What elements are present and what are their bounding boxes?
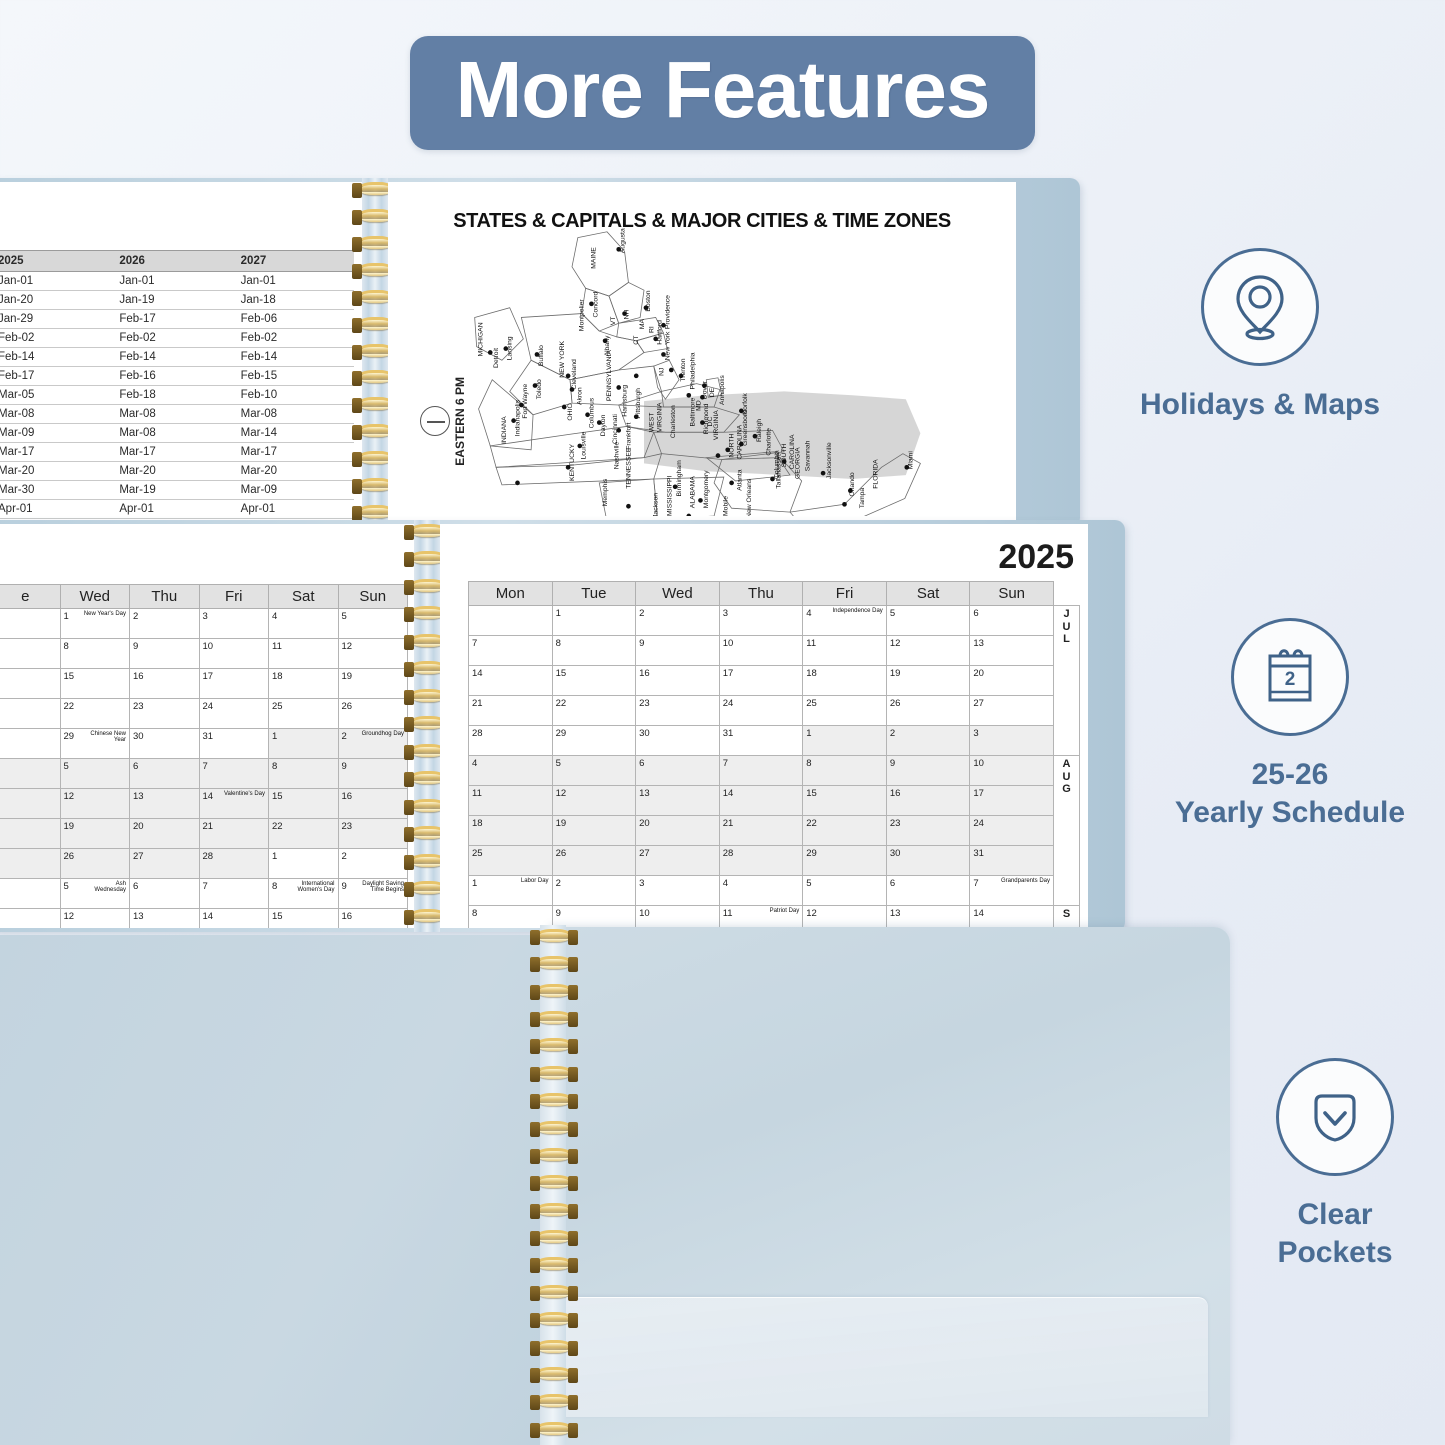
calendar-day-number: 9 [639, 638, 644, 649]
holiday-date-cell: Apr-01 [0, 500, 111, 519]
calendar-day-number: 31 [723, 728, 734, 739]
calendar-day-number: 2 [890, 728, 895, 739]
calendar-cell: 5 [803, 876, 887, 906]
holiday-date-cell: Mar-17 [111, 443, 232, 462]
calendar-cell [0, 609, 60, 639]
calendar-cell: 7Grandparents Day [970, 876, 1054, 906]
calendar-day-number: 6 [133, 761, 138, 772]
spiral-loop [536, 956, 572, 969]
calendar-day-number: 4 [472, 758, 477, 769]
calendar-weekday-header: Wed [636, 582, 720, 606]
calendar-cell: 6 [970, 606, 1054, 636]
calendar-cell: 22 [60, 699, 130, 729]
calendar-week-row: 2223242526 [0, 699, 408, 729]
calendar-day-number: 2 [556, 878, 561, 889]
calendar-day-number: 23 [890, 818, 901, 829]
svg-text:CAROLINA: CAROLINA [736, 424, 743, 459]
calendar-cell: 1Labor Day [469, 876, 553, 906]
calendar-week-row: 78910111213 [469, 636, 1080, 666]
calendar-day-number: 29 [64, 731, 75, 742]
calendar-day-number: 29 [556, 728, 567, 739]
calendar-week-row: 29Chinese New Year303112Groundhog Day [0, 729, 408, 759]
calendar-day-number: 14 [723, 788, 734, 799]
svg-text:Toledo: Toledo [536, 379, 543, 399]
calendar-day-number: 2 [639, 608, 644, 619]
holiday-date-cell: Feb-18 [111, 386, 232, 405]
spiral-loop [536, 929, 572, 942]
holiday-date-cell: Jan-29 [0, 310, 111, 329]
calendar-weekday-header: Tue [552, 582, 636, 606]
svg-text:Orlando: Orlando [849, 472, 856, 496]
calendar-cell: 13 [130, 789, 200, 819]
holiday-date-cell: Feb-02 [111, 329, 232, 348]
calendar-cell: 22 [552, 696, 636, 726]
calendar-cell: 9 [130, 639, 200, 669]
holidays-table: 2025 2026 2027 Jan-01Jan-01Jan-01Jan-20J… [0, 250, 354, 524]
spiral-loop [536, 1066, 572, 1079]
calendar-day-number: 25 [272, 701, 283, 712]
table-row: Mar-05Feb-18Feb-10 [0, 386, 354, 405]
calendar-day-number: 16 [133, 671, 144, 682]
spiral-loop [536, 1340, 572, 1353]
holiday-date-cell: Mar-08 [233, 405, 354, 424]
holiday-date-cell: Feb-17 [0, 367, 111, 386]
calendar-week-row: 1516171819 [0, 669, 408, 699]
calendar-weekday-header: Sat [269, 585, 339, 609]
calendar-week-row: 56789 [0, 759, 408, 789]
calendar-cell: 7 [719, 756, 803, 786]
calendar-cell: 16 [886, 786, 970, 816]
calendar-day-number: 22 [806, 818, 817, 829]
calendar-day-number: 23 [133, 701, 144, 712]
svg-text:Savannah: Savannah [804, 440, 811, 471]
notebook-yearly-calendar: eWedThuFriSatSun 1New Year's Day23458910… [0, 520, 1125, 932]
calendar-event-label: Grandparents Day [1001, 878, 1050, 884]
calendar-day-number: 26 [556, 848, 567, 859]
calendar-day-number: 16 [890, 788, 901, 799]
svg-text:Birmingham: Birmingham [676, 460, 683, 497]
svg-text:Montgomery: Montgomery [703, 470, 710, 508]
svg-text:MISSISSIPPI: MISSISSIPPI [666, 475, 673, 516]
calendar-day-number: 6 [890, 878, 895, 889]
calendar-day-number: 24 [203, 701, 214, 712]
calendar-day-number: 19 [342, 671, 353, 682]
calendar-cell: 6 [886, 876, 970, 906]
calendar-cell: 14Valentine's Day [199, 789, 269, 819]
calendar-cell: 10 [970, 756, 1054, 786]
calendar-right-header-row: MonTueWedThuFriSatSun [469, 582, 1080, 606]
svg-text:RI: RI [649, 326, 656, 333]
calendar-cell: 10 [719, 636, 803, 666]
calendar-day-number: 15 [556, 668, 567, 679]
feature-yearly-schedule-label: 25-26 Yearly Schedule [1140, 756, 1440, 831]
holiday-date-cell: Mar-20 [233, 462, 354, 481]
calendar-day-number: 29 [806, 848, 817, 859]
calendar-cell: 14 [469, 666, 553, 696]
calendar-cell: 8 [803, 756, 887, 786]
calendar-cell: 15 [60, 669, 130, 699]
calendar-cell: 20 [970, 666, 1054, 696]
spiral-coil-mid [414, 520, 440, 932]
clear-pocket-sheet [560, 1297, 1208, 1417]
calendar-day-number: 23 [639, 698, 650, 709]
calendar-cell: 27 [970, 696, 1054, 726]
calendar-cell [0, 789, 60, 819]
calendar-day-number: 18 [806, 668, 817, 679]
table-row: Feb-14Feb-14Feb-14 [0, 348, 354, 367]
spiral-loop [536, 1312, 572, 1325]
svg-text:NEW YORK: NEW YORK [559, 340, 566, 377]
calendar-day-number: 5 [64, 761, 69, 772]
holiday-date-cell: Feb-16 [111, 367, 232, 386]
calendar-day-number: 21 [723, 818, 734, 829]
calendar-day-number: 10 [973, 758, 984, 769]
calendar-event-label: Ash Wednesday [84, 881, 126, 894]
calendar-cell: 26 [886, 696, 970, 726]
calendar-cell [0, 849, 60, 879]
svg-text:Jackson: Jackson [653, 493, 660, 516]
calendar-day-number: 1 [272, 731, 277, 742]
calendar-day-number: 7 [203, 761, 208, 772]
calendar-cell: 22 [269, 819, 339, 849]
calendar-day-number: 31 [973, 848, 984, 859]
svg-text:GEORGIA: GEORGIA [795, 447, 802, 479]
calendar-cell: 31 [199, 729, 269, 759]
calendar-month-tab: JUL [1054, 606, 1080, 756]
calendar-month-tab: AUG [1054, 756, 1080, 906]
holiday-date-cell: Feb-10 [233, 386, 354, 405]
svg-text:Providence: Providence [664, 295, 671, 329]
calendar-cell: 6 [130, 759, 200, 789]
calendar-weekday-header: Sat [886, 582, 970, 606]
spiral-gutter-bottom [540, 925, 566, 1445]
holidays-col-2027: 2027 [233, 251, 354, 272]
calendar-cell [0, 759, 60, 789]
spiral-loop [536, 984, 572, 997]
svg-text:NH: NH [623, 309, 630, 319]
holiday-date-cell: Jan-19 [111, 291, 232, 310]
calendar-cell: 3 [199, 609, 269, 639]
calendar-cell: 7 [469, 636, 553, 666]
svg-text:KENTUCKY: KENTUCKY [569, 443, 576, 480]
holidays-col-2026: 2026 [111, 251, 232, 272]
calendar-cell [469, 606, 553, 636]
svg-text:Akron: Akron [577, 387, 584, 405]
calendar-day-number: 22 [64, 701, 75, 712]
calendar-cell: 17 [199, 669, 269, 699]
holiday-date-cell: Jan-01 [111, 272, 232, 291]
calendar-cell: 31 [719, 726, 803, 756]
calendar-day-number: 27 [639, 848, 650, 859]
calendar-day-number: 11 [272, 641, 282, 652]
calendar-cell: 11 [469, 786, 553, 816]
calendar-day-number: 12 [806, 908, 817, 919]
calendar-day-number: 8 [272, 761, 277, 772]
spiral-loop [536, 1121, 572, 1134]
calendar-day-number: 5 [890, 608, 895, 619]
svg-text:PENNSYLVANIA: PENNSYLVANIA [606, 350, 613, 402]
calendar-day-number: 19 [890, 668, 901, 679]
calendar-day-number: 15 [272, 911, 283, 922]
calendar-cell: 18 [269, 669, 339, 699]
calendar-cell: 27 [636, 846, 720, 876]
calendar-cell: 3 [970, 726, 1054, 756]
calendar-day-number: 26 [64, 851, 75, 862]
calendar-cell: 11 [269, 639, 339, 669]
calendar-week-row: 11121314151617 [469, 786, 1080, 816]
calendar-cell: 5 [60, 759, 130, 789]
calendar-cell: 24 [970, 816, 1054, 846]
calendar-day-number: 17 [203, 671, 214, 682]
svg-text:Augusta: Augusta [620, 228, 627, 253]
table-row: Jan-29Feb-17Feb-06 [0, 310, 354, 329]
calendar-cell [0, 819, 60, 849]
calendar-event-label: International Women's Day [292, 881, 334, 894]
calendar-cell [0, 699, 60, 729]
table-row: Mar-08Mar-08Mar-08 [0, 405, 354, 424]
calendar-cell: 19 [886, 666, 970, 696]
calendar-week-row: 26272812 [0, 849, 408, 879]
calendar-day-number: 3 [723, 608, 728, 619]
calendar-left-header-row: eWedThuFriSatSun [0, 585, 408, 609]
calendar-cell: 19 [60, 819, 130, 849]
feature-clear-pockets-label: Clear Pockets [1185, 1196, 1445, 1271]
svg-text:Cleveland: Cleveland [571, 359, 578, 389]
calendar-cell: 16 [636, 666, 720, 696]
calendar-cell: 16 [338, 789, 408, 819]
calendar-week-row: 18192021222324 [469, 816, 1080, 846]
calendar-cell: 1 [552, 606, 636, 636]
calendar-cell: 7 [199, 879, 269, 909]
table-row: Jan-01Jan-01Jan-01 [0, 272, 354, 291]
page-title: More Features [456, 48, 990, 132]
calendar-cell: 26 [60, 849, 130, 879]
holiday-date-cell: Feb-14 [111, 348, 232, 367]
feature-holidays-maps-label: Holidays & Maps [1110, 386, 1410, 424]
calendar-cell: 5Ash Wednesday [60, 879, 130, 909]
calendar-cell: 19 [338, 669, 408, 699]
calendar-cell: 2 [636, 606, 720, 636]
svg-text:Annapolis: Annapolis [719, 375, 726, 405]
svg-text:Louisville: Louisville [581, 431, 588, 459]
svg-text:Pittsburgh: Pittsburgh [635, 388, 642, 419]
holiday-date-cell: Feb-15 [233, 367, 354, 386]
calendar-event-label: Groundhog Day [362, 731, 404, 737]
svg-text:Dayton: Dayton [600, 414, 607, 436]
spiral-loop [536, 1011, 572, 1024]
map-page: STATES & CAPITALS & MAJOR CITIES & TIME … [388, 182, 1016, 524]
calendar-day-number: 5 [64, 881, 69, 892]
holiday-date-cell: Feb-17 [111, 310, 232, 329]
calendar-day-number: 20 [639, 818, 650, 829]
calendar-cell: 16 [130, 669, 200, 699]
calendar-cell: 28 [469, 726, 553, 756]
spiral-gutter-top [362, 178, 388, 528]
calendar-day-number: 5 [806, 878, 811, 889]
calendar-day-number: 8 [472, 908, 477, 919]
calendar-day-number: 30 [639, 728, 650, 739]
calendar-week-row: 21222324252627 [469, 696, 1080, 726]
calendar-day-number: 25 [806, 698, 817, 709]
calendar-icon-number: 2 [1285, 669, 1296, 690]
header-banner: More Features [410, 36, 1036, 150]
calendar-day-number: 22 [556, 698, 567, 709]
svg-text:Charlotte: Charlotte [766, 428, 773, 456]
spiral-loop [536, 1422, 572, 1435]
feature-clear-pockets: Clear Pockets [1185, 1058, 1445, 1271]
calendar-weekday-header: Fri [803, 582, 887, 606]
svg-text:Cincinnati: Cincinnati [612, 414, 619, 444]
svg-text:Tampa: Tampa [859, 488, 866, 509]
calendar-month-tab-header [1054, 582, 1080, 606]
calendar-cell: 6 [636, 756, 720, 786]
calendar-day-number: 27 [133, 851, 144, 862]
calendar-cell: 28 [719, 846, 803, 876]
holiday-date-cell: Feb-02 [0, 329, 111, 348]
feature-yearly-schedule-line1: 25-26 [1140, 756, 1440, 794]
calendar-cell: 12 [552, 786, 636, 816]
calendar-cell: 9 [338, 759, 408, 789]
calendar-day-number: 30 [133, 731, 144, 742]
svg-text:Dover: Dover [701, 380, 708, 399]
calendar-day-number: 10 [639, 908, 650, 919]
holiday-date-cell: Feb-14 [0, 348, 111, 367]
svg-text:Montpelier: Montpelier [579, 299, 586, 331]
feature-clear-pockets-line2: Pockets [1185, 1234, 1445, 1272]
calendar-event-label: Labor Day [521, 878, 549, 884]
holiday-date-cell: Mar-20 [0, 462, 111, 481]
calendar-day-number: 6 [639, 758, 644, 769]
holiday-date-cell: Mar-08 [0, 405, 111, 424]
calendar-week-row: 1234Independence Day56JUL [469, 606, 1080, 636]
calendar-cell: 26 [338, 699, 408, 729]
calendar-cell: 30 [886, 846, 970, 876]
calendar-cell: 29 [803, 846, 887, 876]
spiral-loop [536, 1394, 572, 1407]
calendar-day-number: 24 [973, 818, 984, 829]
calendar-week-row: 1New Year's Day2345 [0, 609, 408, 639]
calendar-day-number: 16 [342, 791, 353, 802]
table-row: Mar-17Mar-17Mar-17 [0, 443, 354, 462]
calendar-day-number: 5 [556, 758, 561, 769]
calendar-day-number: 12 [342, 641, 353, 652]
calendar-day-number: 18 [272, 671, 283, 682]
calendar-cell: 24 [719, 696, 803, 726]
svg-text:Harrisburg: Harrisburg [622, 385, 629, 417]
calendar-day-number: 1 [64, 611, 69, 622]
calendar-week-row: 121314Valentine's Day1516 [0, 789, 408, 819]
calendar-cell: 2 [552, 876, 636, 906]
holiday-date-cell: Mar-20 [111, 462, 232, 481]
svg-text:TENNESSEE: TENNESSEE [625, 447, 632, 489]
calendar-cell: 15 [803, 786, 887, 816]
calendar-day-number: 1 [556, 608, 561, 619]
calendar-cell: 29 [552, 726, 636, 756]
calendar-cell: 2 [886, 726, 970, 756]
calendar-cell: 7 [199, 759, 269, 789]
calendar-cell: 14 [719, 786, 803, 816]
calendar-day-number: 25 [472, 848, 483, 859]
holiday-date-cell: Jan-20 [0, 291, 111, 310]
calendar-day-number: 12 [64, 911, 75, 922]
calendar-day-number: 12 [890, 638, 901, 649]
calendar-weekday-header: Mon [469, 582, 553, 606]
calendar-weekday-header: Thu [130, 585, 200, 609]
calendar-day-number: 14 [472, 668, 483, 679]
calendar-cell: 19 [552, 816, 636, 846]
svg-text:Baltimore: Baltimore [690, 398, 697, 427]
calendar-day-number: 8 [556, 638, 561, 649]
calendar-week-row: 25262728293031 [469, 846, 1080, 876]
feature-yearly-schedule-line2: Yearly Schedule [1140, 794, 1440, 832]
svg-text:Miami: Miami [908, 451, 915, 470]
calendar-cell: 17 [970, 786, 1054, 816]
calendar-cell: 23 [886, 816, 970, 846]
calendar-cell: 5 [338, 609, 408, 639]
holiday-date-cell: Mar-09 [0, 424, 111, 443]
calendar-cell: 15 [552, 666, 636, 696]
calendar-day-number: 7 [973, 878, 978, 889]
calendar-day-number: 7 [203, 881, 208, 892]
spiral-coil-bottom [540, 925, 566, 1445]
calendar-day-number: 7 [472, 638, 477, 649]
svg-text:Nashville: Nashville [614, 441, 621, 469]
holiday-date-cell: Feb-02 [233, 329, 354, 348]
calendar-day-number: 5 [342, 611, 347, 622]
calendar-cell: 5 [886, 606, 970, 636]
svg-text:Lansing: Lansing [507, 336, 514, 360]
svg-text:Fort Wayne: Fort Wayne [522, 384, 529, 419]
svg-text:Charleston: Charleston [670, 405, 677, 438]
calendar-event-label: Independence Day [832, 608, 882, 614]
holidays-table-body: Jan-01Jan-01Jan-01Jan-20Jan-19Jan-18Jan-… [0, 272, 354, 525]
calendar-cell: 31 [970, 846, 1054, 876]
feature-yearly-schedule: 2 25-26 Yearly Schedule [1140, 618, 1440, 831]
spiral-loop [536, 1285, 572, 1298]
calendar-day-number: 28 [203, 851, 214, 862]
calendar-cell: 3 [636, 876, 720, 906]
svg-text:MICHIGAN: MICHIGAN [477, 322, 484, 356]
calendar-week-row: 14151617181920 [469, 666, 1080, 696]
calendar-day-number: 12 [64, 791, 75, 802]
calendar-cell: 21 [199, 819, 269, 849]
holidays-table-header-row: 2025 2026 2027 [0, 251, 354, 272]
svg-text:Buffalo: Buffalo [538, 345, 545, 366]
calendar-weekday-header: Fri [199, 585, 269, 609]
holiday-date-cell: Mar-30 [0, 481, 111, 500]
calendar-cell: 4Independence Day [803, 606, 887, 636]
svg-text:Philadelphia: Philadelphia [690, 352, 697, 389]
calendar-day-number: 21 [203, 821, 214, 832]
calendar-day-number: 11 [723, 908, 733, 919]
table-row: Mar-20Mar-20Mar-20 [0, 462, 354, 481]
calendar-grid-left: eWedThuFriSatSun 1New Year's Day23458910… [0, 584, 408, 928]
calendar-day-number: 3 [203, 611, 208, 622]
calendar-cell: 8 [552, 636, 636, 666]
calendar-icon: 2 [1257, 644, 1323, 710]
calendar-day-number: 15 [806, 788, 817, 799]
calendar-day-number: 24 [723, 698, 734, 709]
calendar-day-number: 11 [472, 788, 482, 799]
spiral-loop [536, 1257, 572, 1270]
spiral-loop [536, 1203, 572, 1216]
svg-text:Mobile: Mobile [723, 496, 730, 516]
spiral-loop [536, 1230, 572, 1243]
usa-map-illustration: MAINE Augusta Boston Providence Hartford… [463, 224, 1008, 516]
spiral-loop [536, 1093, 572, 1106]
calendar-day-number: 15 [64, 671, 75, 682]
calendar-day-number: 14 [203, 911, 214, 922]
